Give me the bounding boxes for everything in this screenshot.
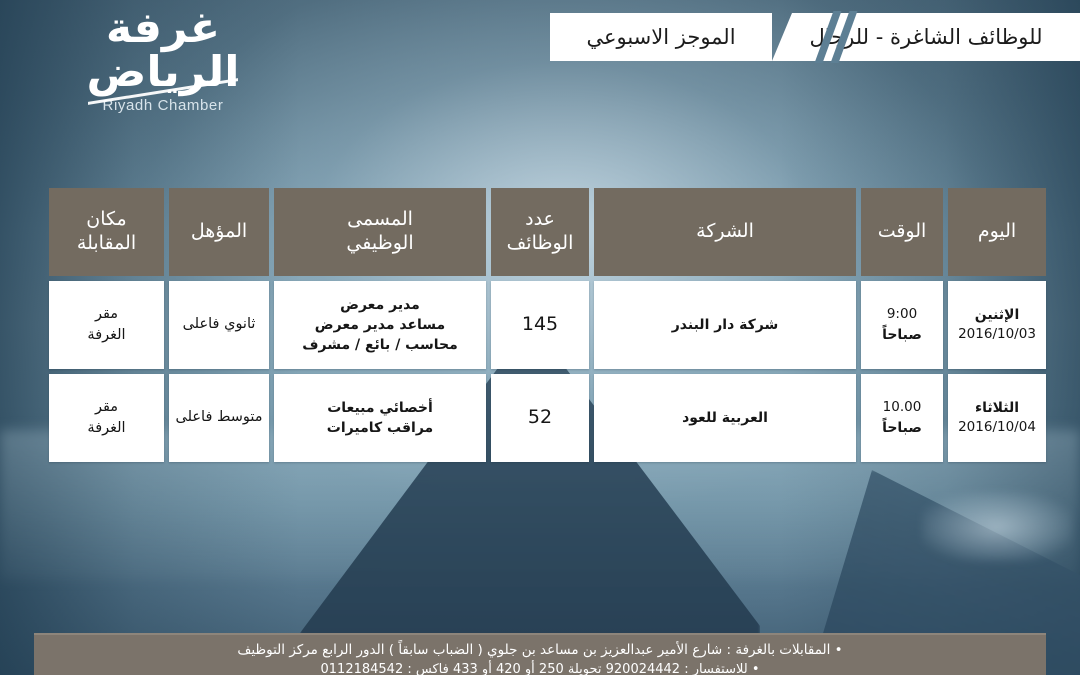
cell-interview-place: مقر الغرفة [49,374,164,462]
cell-day-name: الثلاثاء [975,398,1019,418]
riyadh-chamber-logo: غرفة الرياض Riyadh Chamber [38,6,288,114]
cell-place-line1: مقر [95,304,118,325]
cell-time: 9:00 صباحاً [861,281,943,369]
logo-arabic-wordmark: غرفة الرياض [31,6,296,94]
column-header-day: اليوم [948,188,1046,276]
column-header-job-title-line1: المسمى [347,208,413,232]
vacancies-table: اليوم الوقت الشركة عدد الوظائف المسمى ال… [34,188,1046,462]
header-title-plate: الموجز الاسبوعي [550,13,772,61]
column-header-company-label: الشركة [696,220,754,244]
column-header-interview-place: مكان المقابلة [49,188,164,276]
footer-address-line: • المقابلات بالغرفة : شارع الأمير عبدالع… [237,640,842,660]
cell-time-value: 9:00 [887,305,917,325]
poster-canvas: غرفة الرياض Riyadh Chamber للوظائف الشاغ… [0,0,1080,675]
column-header-place-line1: مكان [86,208,126,232]
column-header-job-title: المسمى الوظيفي [274,188,486,276]
cell-job-title-1: أخصائي مبيعات [327,398,433,418]
cell-job-title-2: مساعد مدير معرض [315,315,445,335]
table-header-row: اليوم الوقت الشركة عدد الوظائف المسمى ال… [34,188,1046,276]
cell-job-title-2: مراقب كاميرات [327,418,433,438]
cell-job-title-1: مدير معرض [340,295,420,315]
cell-job-title-3: محاسب / بائع / مشرف [302,335,458,355]
footer-info-bar: • المقابلات بالغرفة : شارع الأمير عبدالع… [34,633,1046,675]
cell-time-value: 10.00 [883,398,922,418]
cell-day: الثلاثاء 2016/10/04 [948,374,1046,462]
column-header-count: عدد الوظائف [491,188,589,276]
cell-place-line2: الغرفة [87,418,125,439]
cell-place-line2: الغرفة [87,325,125,346]
cell-day: الإثنين 2016/10/03 [948,281,1046,369]
cell-qualification-value: ثانوي فاعلى [183,314,256,335]
column-header-count-line1: عدد [525,208,555,232]
cell-qualification-value: متوسط فاعلى [175,407,262,428]
cell-job-titles: مدير معرض مساعد مدير معرض محاسب / بائع /… [274,281,486,369]
cell-time-period: صباحاً [882,325,922,345]
cell-count-value: 145 [522,311,558,339]
column-header-company: الشركة [594,188,856,276]
cell-qualification: ثانوي فاعلى [169,281,269,369]
cell-day-name: الإثنين [975,305,1020,325]
column-header-place-line2: المقابلة [77,232,136,256]
cell-time-period: صباحاً [882,418,922,438]
cell-company: شركة دار البندر [594,281,856,369]
column-header-job-title-line2: الوظيفي [346,232,413,256]
header-banner: للوظائف الشاغرة - للرجال الموجز الاسبوعي [550,13,1080,61]
cell-day-date: 2016/10/03 [958,325,1036,345]
cell-job-titles: أخصائي مبيعات مراقب كاميرات [274,374,486,462]
column-header-qualification-label: المؤهل [191,220,247,244]
column-header-day-label: اليوم [978,220,1016,244]
cell-count-value: 52 [528,404,552,432]
cell-count: 52 [491,374,589,462]
cell-day-date: 2016/10/04 [958,418,1036,438]
header-subtitle: للوظائف الشاغرة - للرجال [810,25,1043,49]
column-header-time: الوقت [861,188,943,276]
page-title: الموجز الاسبوعي [586,25,735,49]
column-header-time-label: الوقت [878,220,927,244]
column-header-qualification: المؤهل [169,188,269,276]
cell-company-name: العربية للعود [682,408,768,428]
cell-place-line1: مقر [95,397,118,418]
table-row[interactable]: الثلاثاء 2016/10/04 10.00 صباحاً العربية… [34,374,1046,462]
header-subtitle-plate: للوظائف الشاغرة - للرجال [772,13,1080,61]
footer-contact-line: • للاستفسار : 920024442 تحويلة 250 أو 42… [321,660,760,675]
cell-interview-place: مقر الغرفة [49,281,164,369]
cell-company-name: شركة دار البندر [672,315,779,335]
cell-company: العربية للعود [594,374,856,462]
cell-count: 145 [491,281,589,369]
cloud-wisp [922,492,1072,562]
table-row[interactable]: الإثنين 2016/10/03 9:00 صباحاً شركة دار … [34,281,1046,369]
logo-english-subtitle: Riyadh Chamber [38,97,288,114]
column-header-count-line2: الوظائف [507,232,574,256]
cell-qualification: متوسط فاعلى [169,374,269,462]
cell-time: 10.00 صباحاً [861,374,943,462]
